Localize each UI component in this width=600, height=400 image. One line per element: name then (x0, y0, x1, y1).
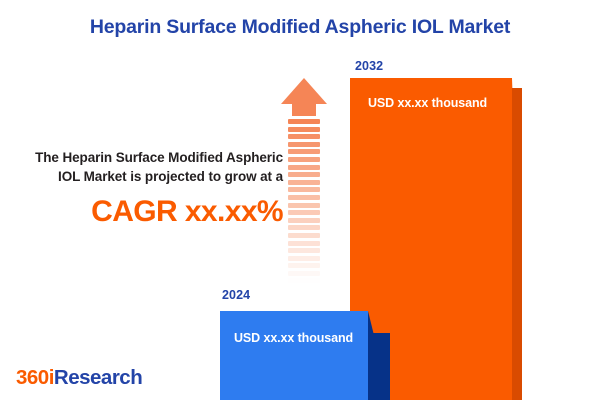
arrow-rung (288, 256, 320, 261)
arrow-rung (288, 218, 320, 223)
arrow-rung (288, 210, 320, 215)
bar-base-value-label: USD xx.xx thousand (234, 331, 353, 345)
arrow-rung (288, 180, 320, 185)
arrow-rung (288, 278, 320, 283)
arrow-rung (288, 233, 320, 238)
brand-logo: 360iResearch (16, 366, 142, 390)
arrow-neck-shape (292, 104, 316, 116)
bar-base-front-face (220, 311, 368, 400)
arrow-head-icon (281, 78, 327, 104)
arrow-rung (288, 263, 320, 268)
arrow-rung (288, 248, 320, 253)
arrow-rung (288, 119, 320, 124)
arrow-rung (288, 286, 320, 291)
logo-mark-text: 360i (16, 366, 54, 389)
arrow-rung (288, 195, 320, 200)
bar-base-year-label: 2024 (222, 288, 250, 302)
arrow-rung (288, 142, 320, 147)
arrow-rung (288, 127, 320, 132)
bar-forecast-side-face (512, 88, 522, 400)
bar-forecast-year-label: 2032 (355, 59, 383, 73)
bar-base-side-face (368, 333, 390, 400)
growth-arrow-icon (281, 78, 327, 300)
page-title: Heparin Surface Modified Aspheric IOL Ma… (0, 16, 600, 39)
arrow-rung (288, 241, 320, 246)
cagr-callout: The Heparin Surface Modified Aspheric IO… (28, 148, 283, 228)
arrow-rung (288, 271, 320, 276)
arrow-rung (288, 165, 320, 170)
cagr-value: CAGR xx.xx% (28, 195, 283, 228)
arrow-rung (288, 134, 320, 139)
bar-base-2024: USD xx.xx thousand (220, 311, 368, 400)
logo-word-text: Research (54, 366, 142, 389)
arrow-rung (288, 225, 320, 230)
arrow-rung-stack (288, 119, 320, 294)
bar-forecast-value-label: USD xx.xx thousand (368, 96, 487, 110)
arrow-rung (288, 203, 320, 208)
infographic-canvas: Heparin Surface Modified Aspheric IOL Ma… (0, 0, 600, 400)
cagr-lead-text: The Heparin Surface Modified Aspheric IO… (28, 148, 283, 186)
arrow-rung (288, 149, 320, 154)
arrow-rung (288, 157, 320, 162)
arrow-rung (288, 187, 320, 192)
arrow-rung (288, 172, 320, 177)
